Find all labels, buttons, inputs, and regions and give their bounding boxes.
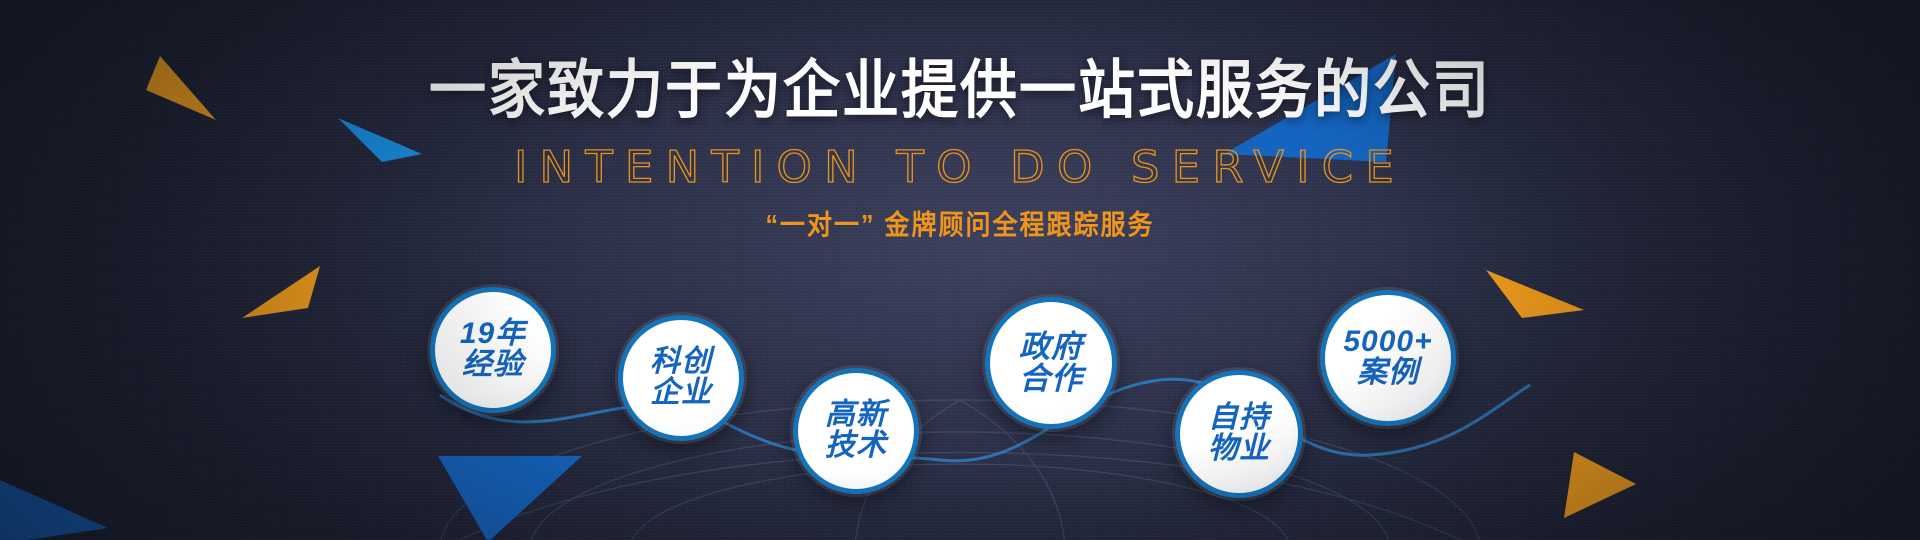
badge-cases[interactable]: 5000+ 案例	[1320, 290, 1456, 426]
badge-innovation[interactable]: 科创 企业	[618, 315, 744, 441]
badge-line-1: 自持	[1208, 403, 1270, 434]
badge-line-2: 物业	[1208, 434, 1270, 465]
badge-self-owned-property[interactable]: 自持 物业	[1175, 370, 1303, 498]
badge-line-1: 高新	[825, 400, 887, 431]
badge-line-1: 科创	[650, 347, 712, 378]
badge-experience[interactable]: 19年 经验	[430, 287, 556, 413]
badge-line-2: 合作	[1019, 363, 1083, 395]
badge-line-2: 企业	[650, 378, 712, 409]
badge-line-2: 技术	[825, 431, 887, 462]
badge-line-1: 政府	[1019, 331, 1083, 363]
badge-government[interactable]: 政府 合作	[985, 297, 1117, 429]
badge-line-1: 19年	[460, 319, 526, 350]
badge-group: 19年 经验 科创 企业 高新 技术 政府 合作 自持 物业 5000+ 案例	[0, 0, 1920, 540]
badge-line-1: 5000+	[1343, 327, 1432, 358]
badge-line-2: 经验	[462, 350, 524, 381]
badge-high-tech[interactable]: 高新 技术	[793, 368, 919, 494]
promotional-banner: 一家致力于为企业提供一站式服务的公司 INTENTION TO DO SERVI…	[0, 0, 1920, 540]
badge-line-2: 案例	[1357, 358, 1419, 389]
